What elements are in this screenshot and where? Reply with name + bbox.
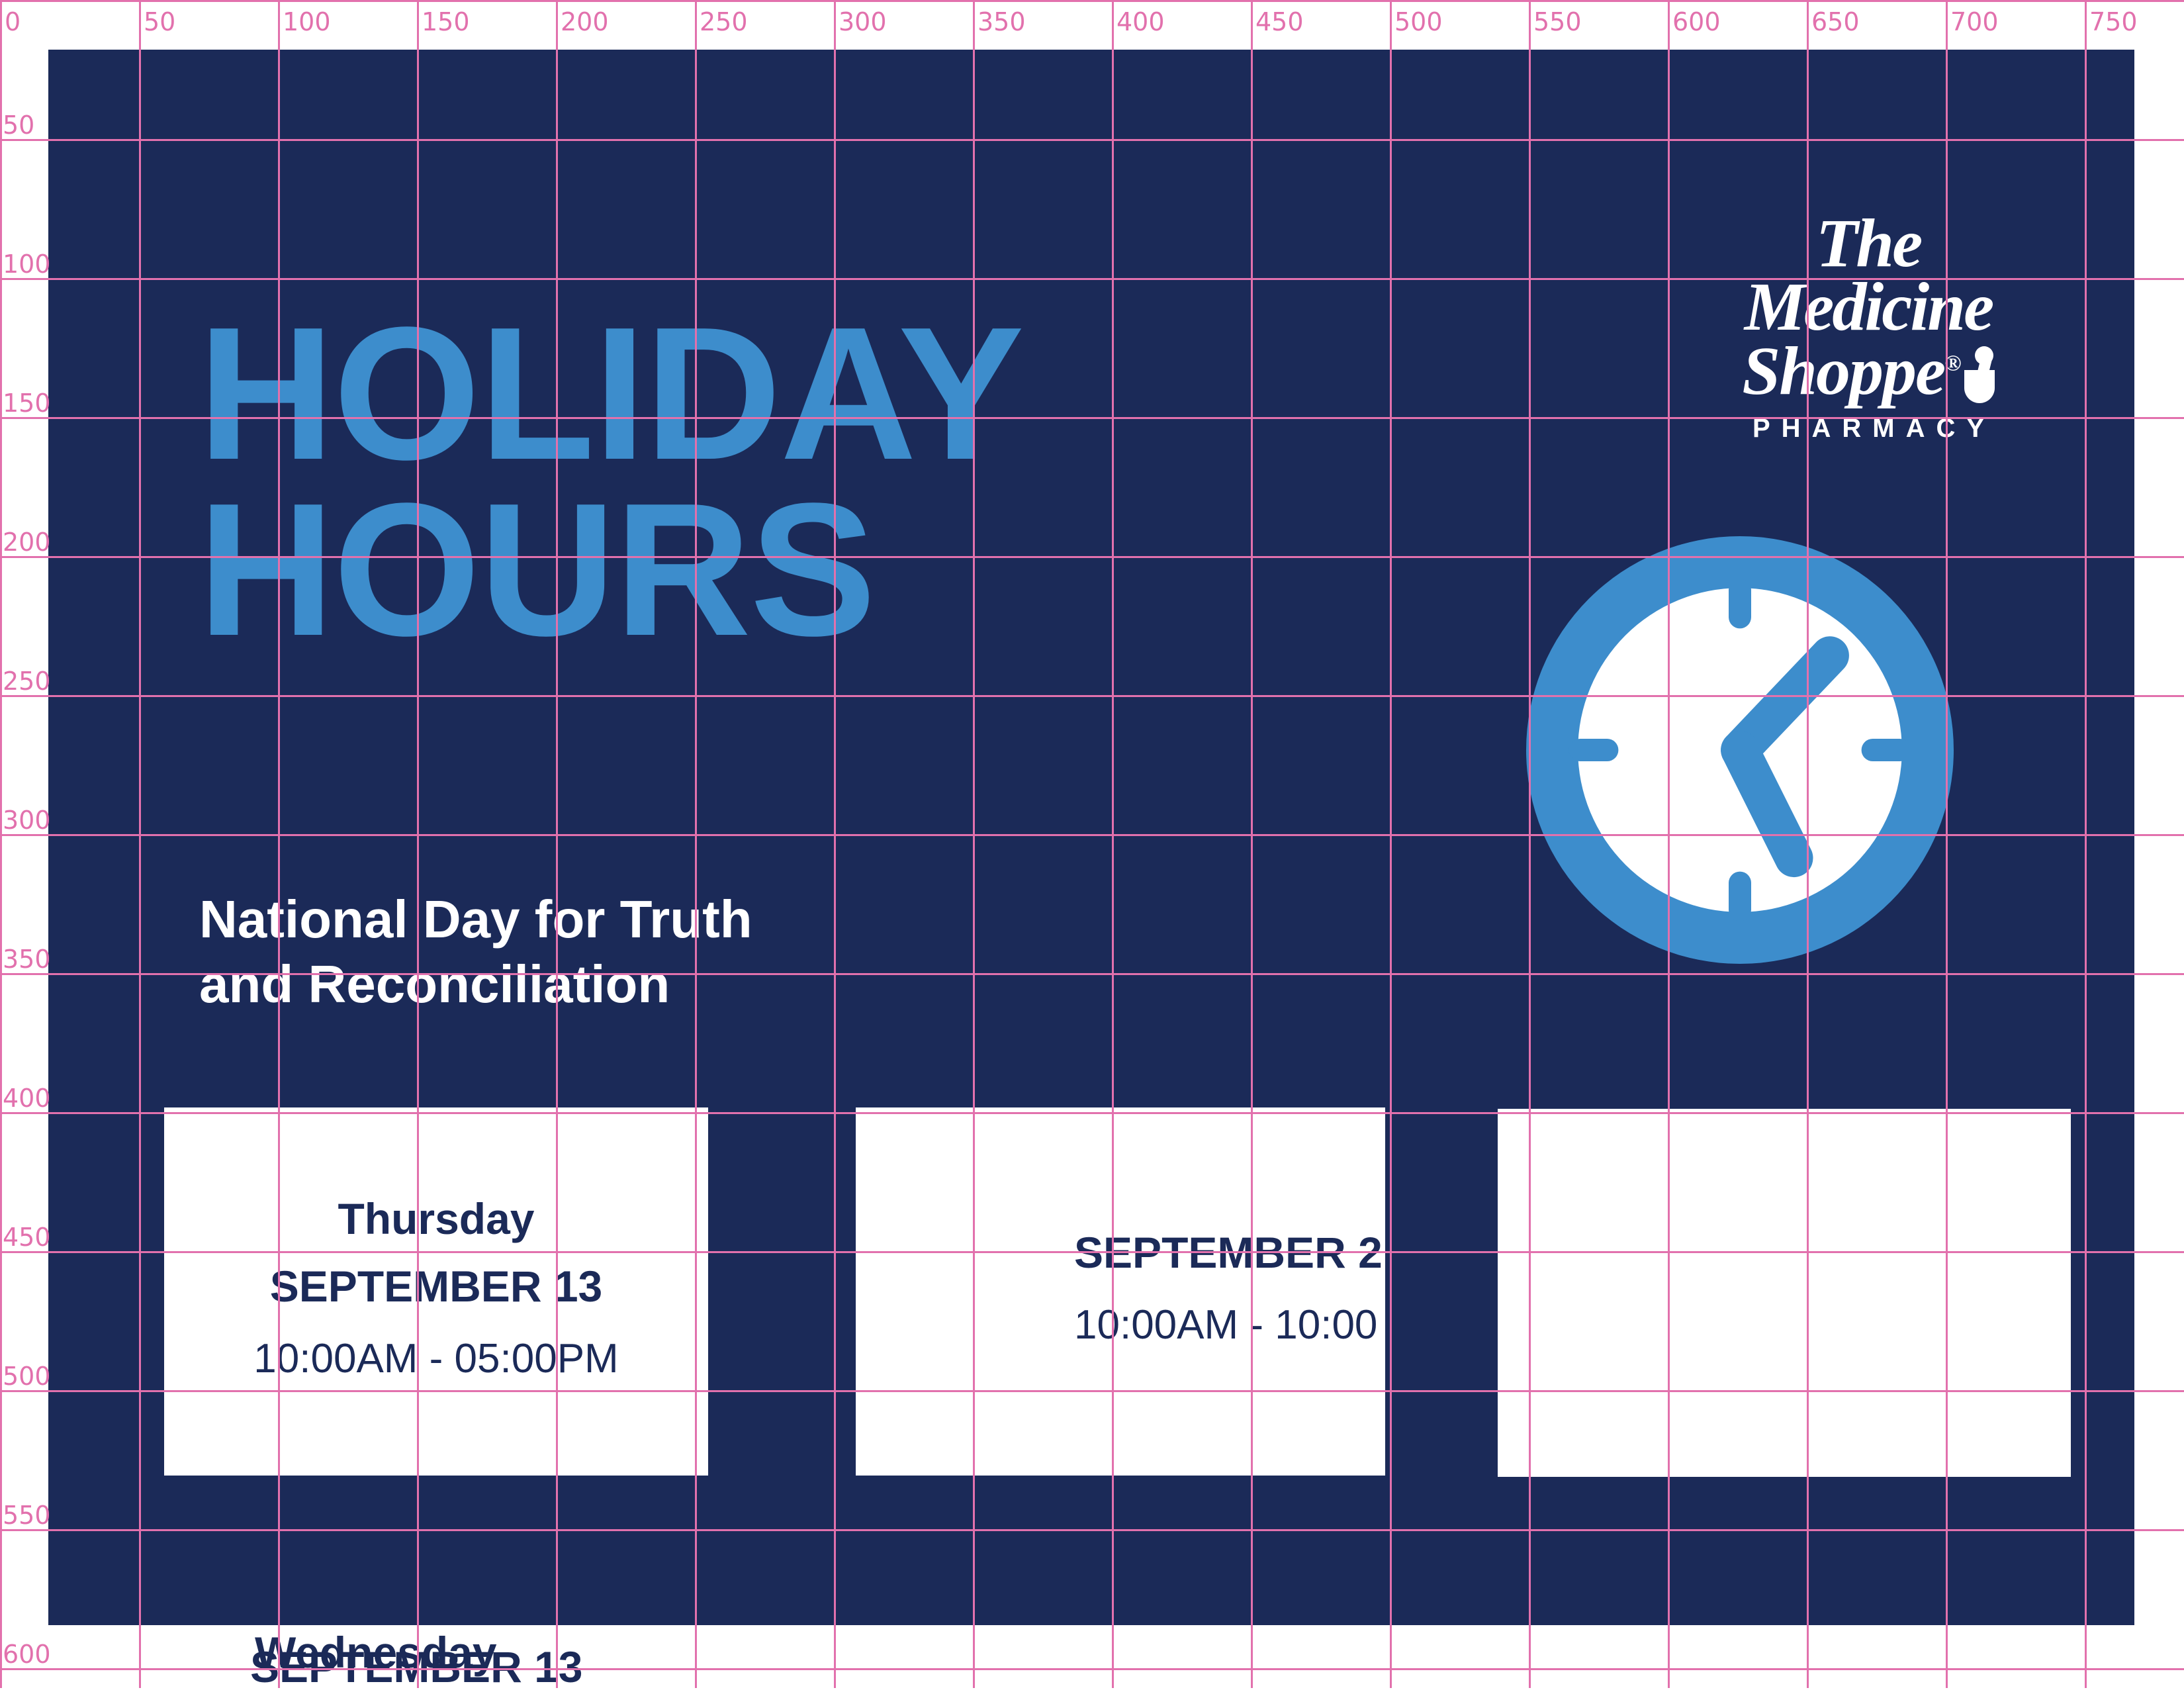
logo-line-the: The <box>1650 212 2087 275</box>
registered-mark: ® <box>1944 352 1961 376</box>
ruler-label-x: 200 <box>561 9 609 34</box>
card-day: Thursday <box>338 1185 534 1252</box>
mortar-pestle-icon <box>1964 346 1995 403</box>
ruler-label-x: 250 <box>700 9 748 34</box>
ruler-label-x: 700 <box>1950 9 1999 34</box>
logo-shoppe-word: Shoppe <box>1742 333 1944 409</box>
poster-subtitle: National Day for Truth and Reconciliatio… <box>199 887 1126 1016</box>
ruler-label-x: 50 <box>144 9 175 34</box>
artboard: HOLIDAY HOURS National Day for Truth and… <box>48 50 2134 1625</box>
ruler-label-x: 150 <box>422 9 470 34</box>
ruler-label-x: 750 <box>2089 9 2138 34</box>
ruler-label-y: 200 <box>3 530 51 555</box>
ruler-label-y: 550 <box>3 1503 51 1528</box>
ruler-label-x: 650 <box>1811 9 1860 34</box>
card-date: SEPTEMBER 13 <box>270 1252 602 1320</box>
hours-card: Thursday SEPTEMBER 13 10:00AM - 05:00PM <box>164 1107 708 1476</box>
page-title: HOLIDAY HOURS <box>198 306 1522 658</box>
ruler-label-y: 600 <box>3 1642 51 1667</box>
ruler-label-y: 500 <box>3 1364 51 1389</box>
poster-canvas: HOLIDAY HOURS National Day for Truth and… <box>0 0 2184 1688</box>
ruler-gridline-h <box>0 0 2184 2</box>
hours-card: SEPTEMBER 2 10:00AM - 10:00 <box>856 1107 1385 1476</box>
logo-tagline: PHARMACY <box>1650 414 2087 444</box>
ruler-label-x: 350 <box>978 9 1026 34</box>
ruler-label-x: 100 <box>283 9 331 34</box>
ruler-label-y: 150 <box>3 391 51 416</box>
hours-card <box>1498 1109 2071 1477</box>
ruler-label-y: 300 <box>3 808 51 833</box>
logo-line-medicine: Medicine <box>1650 275 2087 339</box>
ruler-label-y: 100 <box>3 252 51 277</box>
ruler-label-y: 350 <box>3 947 51 972</box>
ruler-label-y: 50 <box>3 113 34 138</box>
ruler-label-y: 250 <box>3 669 51 694</box>
ruler-label-x: 0 <box>5 9 21 34</box>
ruler-label-x: 300 <box>839 9 887 34</box>
clock-icon <box>1515 525 1965 975</box>
ruler-label-x: 600 <box>1672 9 1721 34</box>
ruler-label-x: 400 <box>1116 9 1165 34</box>
ruler-gridline-v <box>0 0 2 1688</box>
ruler-label-x: 450 <box>1255 9 1304 34</box>
card-time: 10:00AM - 05:00PM <box>253 1320 618 1398</box>
ruler-label-x: 500 <box>1394 9 1443 34</box>
card-date: SEPTEMBER 2 <box>1074 1219 1383 1286</box>
brand-logo: The Medicine Shoppe® PHARMACY <box>1650 212 2087 444</box>
ruler-label-x: 550 <box>1533 9 1582 34</box>
ruler-label-y: 400 <box>3 1086 51 1111</box>
card-time: 10:00AM - 10:00 <box>1074 1286 1377 1364</box>
logo-line-shoppe: Shoppe® <box>1650 338 2087 404</box>
overflow-date-text: SEPTEMBER 13 <box>250 1642 582 1692</box>
ruler-label-y: 450 <box>3 1225 51 1250</box>
